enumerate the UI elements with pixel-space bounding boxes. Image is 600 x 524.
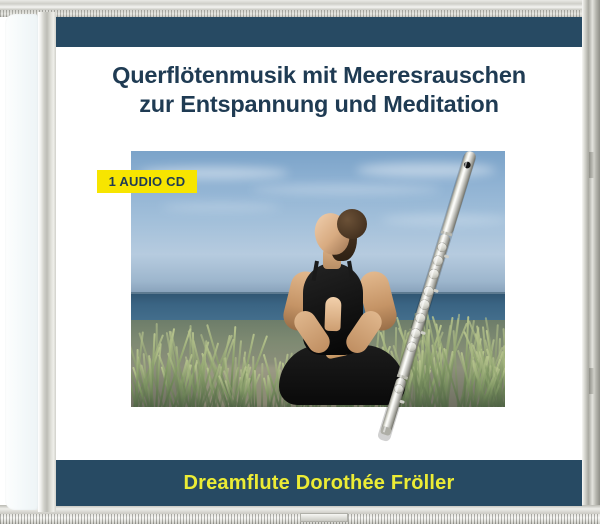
album-title-line-2: zur Entspannung und Meditation (56, 90, 582, 119)
artist-name: Dreamflute Dorothée Fröller (56, 472, 582, 495)
case-bottom-rim (0, 505, 600, 524)
figure-praying-hands (324, 297, 341, 332)
album-title: Querflötenmusik mit Meeresrauschen zur E… (56, 61, 582, 119)
case-right-notch-upper (589, 152, 594, 178)
photo-meditating-woman (281, 213, 401, 403)
cd-cover-screenshot: Querflötenmusik mit Meeresrauschen zur E… (0, 0, 600, 524)
jewel-case-hinge (38, 12, 56, 512)
case-right-notch-lower (589, 368, 594, 394)
photo-cloud (161, 203, 281, 211)
case-bottom-tab (300, 513, 348, 522)
top-navy-band (56, 17, 582, 47)
photo-cloud (356, 163, 496, 177)
audio-cd-badge: 1 AUDIO CD (97, 170, 197, 193)
case-right-rim (582, 0, 600, 524)
album-title-line-1: Querflötenmusik mit Meeresrauschen (56, 61, 582, 90)
photo-cloud (251, 185, 441, 194)
jewel-case-spine (5, 14, 38, 510)
cd-cover-artwork: Querflötenmusik mit Meeresrauschen zur E… (56, 17, 582, 506)
case-top-rim (0, 0, 600, 17)
case-top-rim-texture (0, 10, 600, 17)
figure-hair-bun (337, 209, 367, 239)
